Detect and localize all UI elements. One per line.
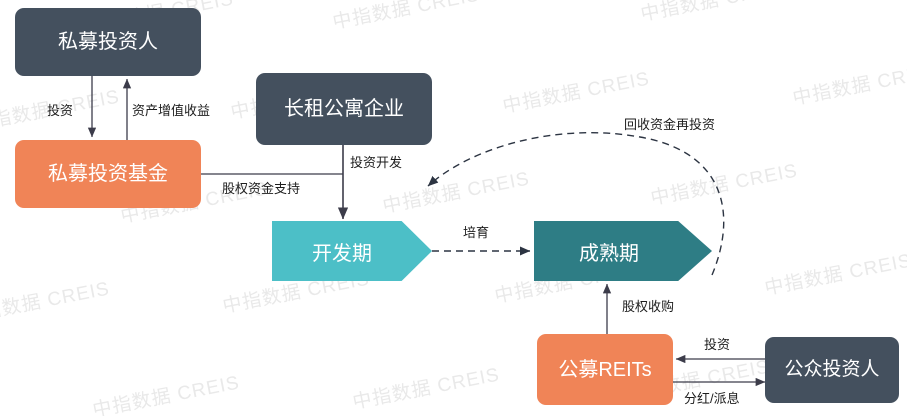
edge-label-invest-develop: 投资开发 bbox=[350, 152, 402, 171]
edge-label-asset-gain: 资产增值收益 bbox=[132, 100, 210, 119]
node-public-investor-label: 公众投资人 bbox=[784, 360, 879, 381]
node-private-fund[interactable]: 私募投资基金 bbox=[15, 140, 201, 208]
edge-label-public-invest: 投资 bbox=[704, 334, 730, 353]
node-private-investor-label: 私募投资人 bbox=[58, 31, 158, 53]
diagram-canvas: 中指数据 CREIS 中指数据 CREIS 中指数据 CREIS 中指数据 CR… bbox=[0, 0, 907, 416]
edge-label-reinvest: 回收资金再投资 bbox=[624, 114, 715, 133]
node-apartment-company-label: 长租公寓企业 bbox=[284, 98, 404, 120]
node-private-investor[interactable]: 私募投资人 bbox=[15, 8, 201, 76]
node-mature-phase-label: 成熟期 bbox=[579, 237, 639, 266]
node-public-reits[interactable]: 公募REITs bbox=[537, 334, 673, 405]
edge-label-dividend: 分红/派息 bbox=[684, 388, 740, 407]
node-mature-phase[interactable]: 成熟期 bbox=[534, 221, 712, 281]
edge-label-equity-acquire: 股权收购 bbox=[622, 296, 674, 315]
edge-label-equity-support: 股权资金支持 bbox=[222, 178, 300, 197]
node-development-phase-label: 开发期 bbox=[312, 237, 372, 266]
edge-label-cultivate: 培育 bbox=[463, 222, 489, 241]
node-public-investor[interactable]: 公众投资人 bbox=[765, 337, 899, 403]
node-private-fund-label: 私募投资基金 bbox=[48, 163, 168, 185]
node-development-phase[interactable]: 开发期 bbox=[272, 221, 432, 281]
node-apartment-company[interactable]: 长租公寓企业 bbox=[256, 73, 432, 145]
edge-label-invest: 投资 bbox=[47, 100, 73, 119]
node-public-reits-label: 公募REITs bbox=[558, 359, 651, 381]
